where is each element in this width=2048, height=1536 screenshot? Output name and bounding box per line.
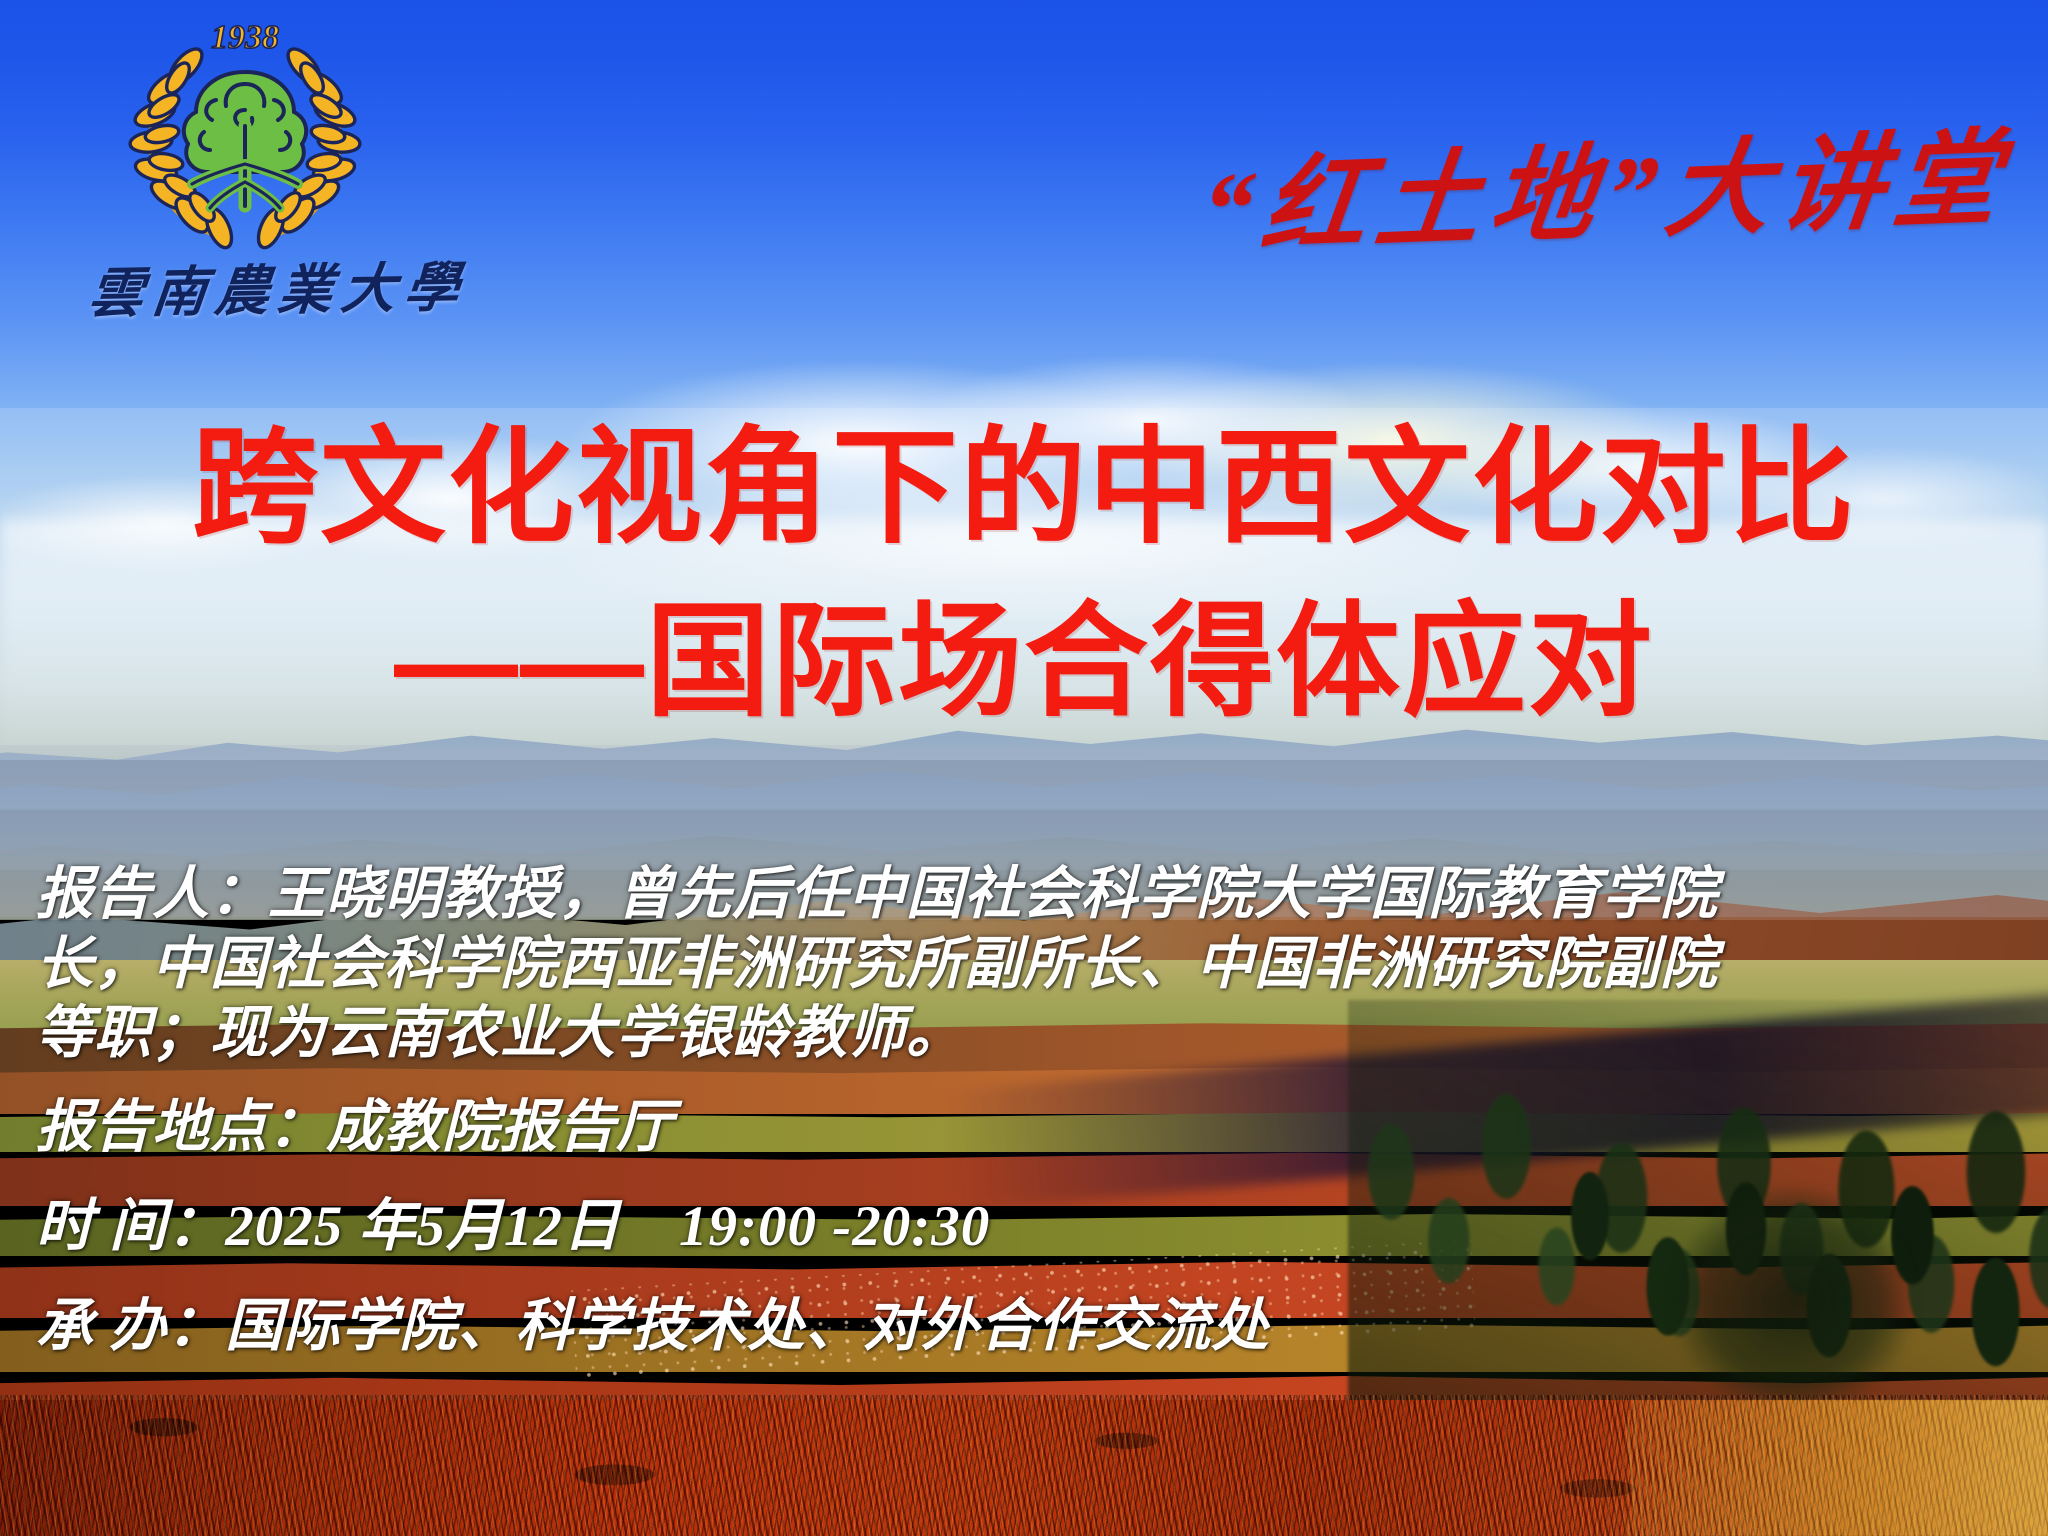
lecture-series-title: “红土地”大讲堂 [1193, 92, 2019, 275]
university-name: 雲南農業大學 [85, 243, 472, 329]
poster-title: 跨文化视角下的中西文化对比 ——国际场合得体应对 [0, 420, 2048, 730]
title-line-2: ——国际场合得体应对 [0, 596, 2048, 730]
organizers-line: 承 办：国际学院、科学技术处、对外合作交流处 [36, 1292, 2048, 1362]
speaker-line-2: 长，中国社会科学院西亚非洲研究所副所长、中国非洲研究院副院 [36, 930, 2048, 1000]
university-branding: 1938 [78, 14, 438, 314]
speaker-line-3: 等职；现为云南农业大学银龄教师。 [36, 999, 2048, 1069]
title-line-1: 跨文化视角下的中西文化对比 [0, 420, 2048, 556]
speaker-line-1: 报告人：王晓明教授，曾先后任中国社会科学院大学国际教育学院 [36, 860, 2048, 930]
venue-line: 报告地点：成教院报告厅 [36, 1093, 2048, 1163]
event-details: 报告人：王晓明教授，曾先后任中国社会科学院大学国际教育学院 长，中国社会科学院西… [36, 860, 2048, 1361]
time-line: 时 间：2025 年5月12日 19:00 -20:30 [36, 1192, 2048, 1262]
university-crest-icon: 1938 [120, 14, 370, 254]
poster-canvas: 1938 [0, 0, 2048, 1536]
poster-content: 1938 [0, 0, 2048, 1536]
svg-text:1938: 1938 [211, 19, 279, 56]
